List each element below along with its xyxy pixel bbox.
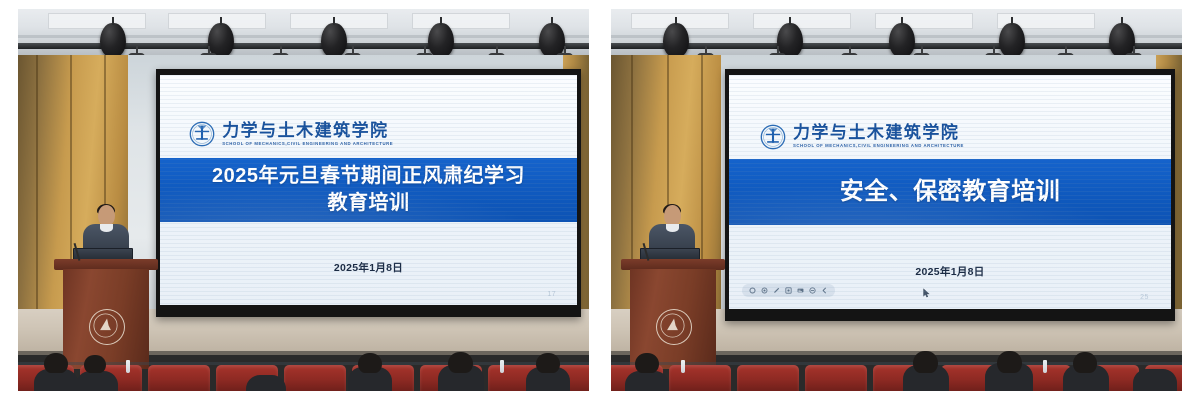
stage-spotlight (208, 23, 234, 57)
stage-spotlight (889, 23, 915, 57)
slide-title-band: 安全、保密教育培训 (729, 159, 1171, 225)
slide-left: 力学与土木建筑学院 SCHOOL OF MECHANICS,CIVIL ENGI… (160, 75, 577, 305)
zoom-icon[interactable] (785, 287, 792, 294)
photo-right[interactable]: 力学与土木建筑学院 SCHOOL OF MECHANICS,CIVIL ENGI… (611, 9, 1182, 391)
stage-spotlight (777, 23, 803, 57)
audience-head (44, 353, 68, 373)
audience-head (913, 351, 938, 373)
projection-screen[interactable]: 力学与土木建筑学院 SCHOOL OF MECHANICS,CIVIL ENGI… (156, 69, 581, 317)
audience-member (246, 375, 286, 391)
stage-spotlight (1109, 23, 1135, 57)
more-options-icon[interactable] (809, 287, 816, 294)
slide-header: 力学与土木建筑学院 SCHOOL OF MECHANICS,CIVIL ENGI… (729, 75, 1171, 159)
audience-head (1073, 352, 1097, 373)
speaker-collar (666, 224, 679, 232)
pillar-circle-logo-icon (189, 121, 215, 147)
audience-member (625, 371, 669, 391)
slide-title-line-1: 安全、保密教育培训 (840, 176, 1061, 208)
slide-header: 力学与土木建筑学院 SCHOOL OF MECHANICS,CIVIL ENGI… (160, 75, 577, 158)
slide-title-band: 2025年元旦春节期间正风肃纪学习 教育培训 (160, 158, 577, 222)
auditorium-seat (284, 365, 346, 391)
pen-icon[interactable] (773, 287, 780, 294)
audience-head (635, 353, 659, 373)
school-brand-text: 力学与土木建筑学院 SCHOOL OF MECHANICS,CIVIL ENGI… (222, 122, 393, 146)
school-name-cn: 力学与土木建筑学院 (793, 124, 964, 141)
photo-left[interactable]: 力学与土木建筑学院 SCHOOL OF MECHANICS,CIVIL ENGI… (18, 9, 589, 391)
water-bottle (1043, 360, 1047, 373)
chevron-left-icon[interactable] (821, 287, 828, 294)
audience-member (1133, 369, 1177, 391)
audience-member (76, 371, 118, 391)
projection-screen[interactable]: 力学与土木建筑学院 SCHOOL OF MECHANICS,CIVIL ENGI… (725, 69, 1175, 321)
slide-title-line-1: 2025年元旦春节期间正风肃纪学习 (212, 163, 525, 190)
projected-image: 力学与土木建筑学院 SCHOOL OF MECHANICS,CIVIL ENGI… (160, 75, 577, 305)
pillar-circle-logo-icon (760, 124, 786, 150)
speaker-collar (100, 224, 113, 232)
slide-number: 25 (1140, 294, 1149, 301)
speaker-head (664, 205, 681, 226)
projected-image: 力学与土木建筑学院 SCHOOL OF MECHANICS,CIVIL ENGI… (729, 75, 1171, 309)
auditorium-scene: 力学与土木建筑学院 SCHOOL OF MECHANICS,CIVIL ENGI… (611, 9, 1182, 391)
audience-head (448, 352, 473, 373)
school-name-cn: 力学与土木建筑学院 (222, 122, 393, 139)
pointer-dot-icon[interactable] (761, 287, 768, 294)
audience-seating (611, 349, 1182, 391)
stage-spotlight (539, 23, 565, 57)
auditorium-seat (805, 365, 867, 391)
slide-date: 2025年1月8日 (729, 264, 1171, 279)
audience-seating (18, 349, 589, 391)
stage-spotlight (428, 23, 454, 57)
school-name-en: SCHOOL OF MECHANICS,CIVIL ENGINEERING AN… (222, 142, 393, 146)
school-brand: 力学与土木建筑学院 SCHOOL OF MECHANICS,CIVIL ENGI… (189, 121, 393, 147)
slide-right: 力学与土木建筑学院 SCHOOL OF MECHANICS,CIVIL ENGI… (729, 75, 1171, 309)
ppt-presenter-toolbar[interactable] (742, 284, 835, 297)
water-bottle (500, 360, 504, 373)
audience-head (997, 351, 1022, 373)
stage-spotlight (100, 23, 126, 57)
slide-date: 2025年1月8日 (160, 260, 577, 275)
mouse-cursor-icon (923, 285, 930, 295)
university-emblem (89, 309, 125, 345)
slide-title-line-2: 教育培训 (328, 190, 410, 217)
pen-color-icon[interactable] (749, 287, 756, 294)
stage-spotlight (663, 23, 689, 57)
water-bottle (126, 360, 130, 373)
auditorium-seat (669, 365, 731, 391)
photo-gallery: 力学与土木建筑学院 SCHOOL OF MECHANICS,CIVIL ENGI… (0, 0, 1200, 400)
school-brand-text: 力学与土木建筑学院 SCHOOL OF MECHANICS,CIVIL ENGI… (793, 124, 964, 148)
auditorium-scene: 力学与土木建筑学院 SCHOOL OF MECHANICS,CIVIL ENGI… (18, 9, 589, 391)
slide-footer: 2025年1月8日 17 (160, 222, 577, 305)
school-brand: 力学与土木建筑学院 SCHOOL OF MECHANICS,CIVIL ENGI… (760, 124, 964, 150)
auditorium-seat (737, 365, 799, 391)
audience-head (536, 353, 560, 373)
water-bottle (681, 360, 685, 373)
stage-spotlight (999, 23, 1025, 57)
stage-spotlight (321, 23, 347, 57)
auditorium-seat (148, 365, 210, 391)
school-name-en: SCHOOL OF MECHANICS,CIVIL ENGINEERING AN… (793, 144, 964, 148)
speaker-head (98, 205, 115, 226)
university-emblem (656, 309, 692, 345)
audience-head (358, 353, 382, 373)
audience-head (84, 355, 106, 373)
slide-number: 17 (547, 291, 556, 298)
subtitle-icon[interactable] (797, 287, 804, 294)
